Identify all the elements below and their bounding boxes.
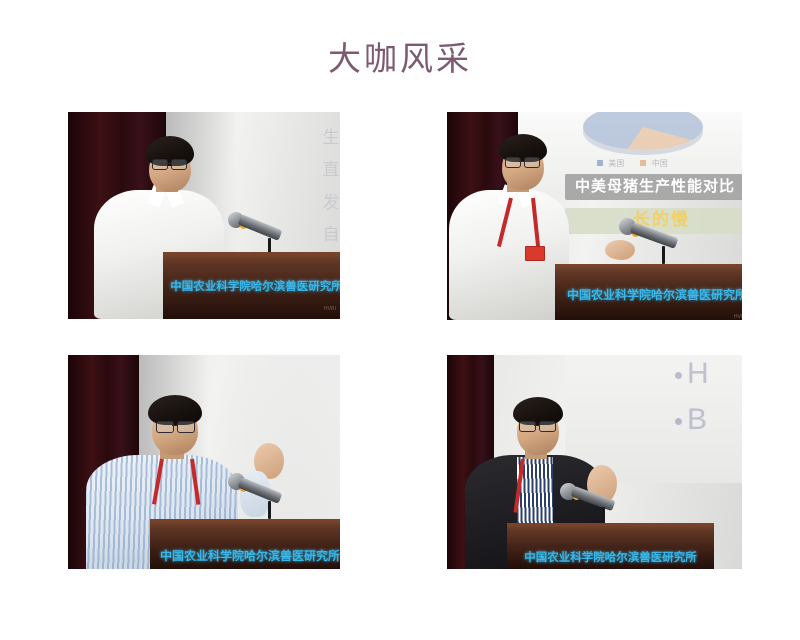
photo-top-right[interactable]: 美国 中国 中美母猪生产性能对比 长的慢 [447,112,742,320]
photo-top-left[interactable]: 生 直 发 自 中国农业科学院哈尔滨兽医研究所 [68,112,340,319]
glasses-icon [152,159,168,170]
badge [525,246,545,261]
podium-label: 中国农业科学院哈尔滨兽医研究所 [150,547,340,564]
glasses-icon [177,421,195,433]
slide-ghost-text: 生 直 发 自 [318,122,340,251]
glasses-icon [156,421,174,433]
slide-ghost-line: 直 [318,154,340,186]
slide-headline: 中美母猪生产性能对比 [575,179,735,194]
glasses-icon [519,421,536,432]
bullet-dot-icon [675,418,682,425]
page-title: 大咖风采 [0,32,800,80]
podium: 中国农业科学院哈尔滨兽医研究所 HVRI [150,519,340,569]
legend-label-us: 美国 [608,159,624,168]
projection-screen [565,355,742,483]
legend-swatch-cn [640,160,646,166]
photo-bottom-left[interactable]: 中国农业科学院哈尔滨兽医研究所 HVRI [68,355,340,569]
bullet-dot-icon [675,372,682,379]
slide-bullet-item: B [675,403,707,437]
podium-label: 中国农业科学院哈尔滨兽医研究所 [163,278,340,294]
podium-label: 中国农业科学院哈尔滨兽医研究所 [555,286,742,303]
slide-bullet-item: H [675,357,709,391]
slide-ghost-line: 自 [318,219,340,251]
glasses-icon [539,421,556,432]
slide-bullet-label: H [687,357,709,390]
slide-bullet-label: B [687,403,707,436]
podium: 中国农业科学院哈尔滨兽医研究所 [507,523,714,569]
legend-swatch-us [597,160,603,166]
legend-label-cn: 中国 [652,159,668,168]
glasses-icon [171,159,187,170]
photo-bottom-right[interactable]: H B [447,355,742,569]
slide-chart-legend: 美国 中国 [597,158,668,169]
slide-pie-chart [583,112,703,158]
slide-ghost-line: 发 [318,187,340,219]
podium: 中国农业科学院哈尔滨兽医研究所 HVRI [163,252,340,319]
slide-ghost-line: 生 [318,122,340,154]
glasses-icon [505,157,521,168]
gallery-page: 大咖风采 生 直 发 自 [0,0,800,640]
podium-label: 中国农业科学院哈尔滨兽医研究所 [507,549,714,565]
glasses-icon [524,157,540,168]
podium: 中国农业科学院哈尔滨兽医研究所 HVRI [555,264,742,320]
